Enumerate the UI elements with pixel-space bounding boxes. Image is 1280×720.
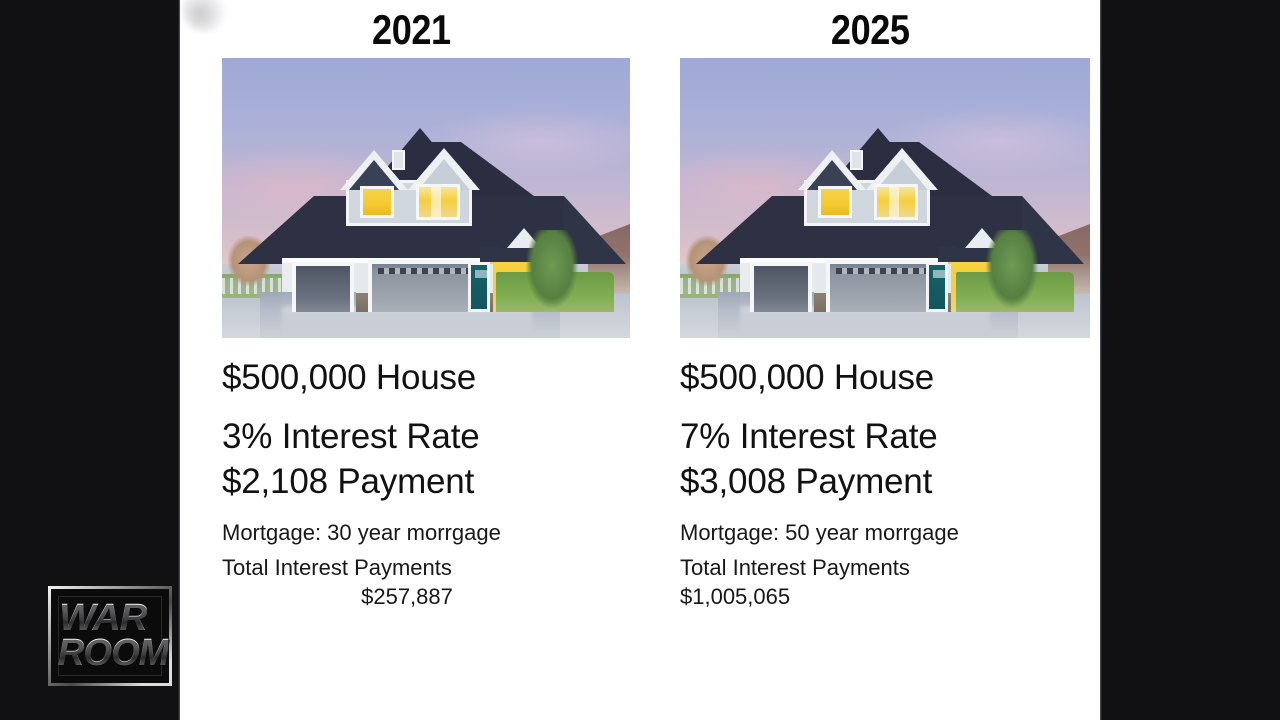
total-interest-amount-left: $257,887 xyxy=(222,585,630,608)
slide-stage: 2021 xyxy=(0,0,1280,720)
payment-line-left: $2,108 Payment xyxy=(222,464,630,499)
figures-right: $500,000 House 7% Interest Rate $3,008 P… xyxy=(680,338,1088,608)
garage-door-double xyxy=(368,260,480,312)
total-interest-label-left: Total Interest Payments xyxy=(222,556,630,579)
attic-vent-window xyxy=(850,150,863,170)
upper-window-1 xyxy=(818,186,852,218)
roof-left-slope xyxy=(238,196,314,264)
upper-window-2 xyxy=(874,184,918,220)
tree-right-icon xyxy=(986,230,1038,308)
comparison-column-2021: 2021 xyxy=(180,0,640,720)
total-interest-label-right: Total Interest Payments xyxy=(680,556,1088,579)
attic-vent-window xyxy=(392,150,405,170)
rate-line-right: 7% Interest Rate xyxy=(680,419,1088,454)
figures-left: $500,000 House 3% Interest Rate $2,108 P… xyxy=(222,338,630,608)
garage-door-double xyxy=(826,260,938,312)
front-door xyxy=(468,262,490,312)
logo-line-war: WAR xyxy=(55,601,146,636)
price-line-left: $500,000 House xyxy=(222,354,630,395)
logo-line-room: ROOM xyxy=(58,636,169,671)
slide-card: 2021 xyxy=(180,0,1100,720)
upper-window-1 xyxy=(360,186,394,218)
war-room-logo: WAR ROOM xyxy=(48,586,172,686)
porch-pillar-left xyxy=(814,264,826,312)
front-door xyxy=(926,262,948,312)
rate-line-left: 3% Interest Rate xyxy=(222,419,630,454)
house-photo-right xyxy=(680,58,1090,338)
garage-door-single xyxy=(292,262,354,312)
comparison-columns: 2021 xyxy=(180,0,1100,720)
price-line-right: $500,000 House xyxy=(680,354,1088,395)
roof-left-slope xyxy=(696,196,772,264)
mortgage-term-left: Mortgage: 30 year morrgage xyxy=(222,521,630,544)
mortgage-term-right: Mortgage: 50 year morrgage xyxy=(680,521,1088,544)
tree-right-icon xyxy=(526,230,578,308)
comparison-column-2025: 2025 xyxy=(640,0,1100,720)
porch-pillar-left xyxy=(356,264,368,312)
total-interest-amount-right: $1,005,065 xyxy=(680,585,1088,608)
house-photo-left xyxy=(222,58,630,338)
year-heading-left: 2021 xyxy=(251,0,602,58)
logo-text: WAR ROOM xyxy=(48,586,172,686)
payment-line-right: $3,008 Payment xyxy=(680,464,1088,499)
year-heading-right: 2025 xyxy=(709,0,1060,58)
upper-window-2 xyxy=(416,184,460,220)
letterbox-right xyxy=(1100,0,1280,720)
garage-door-single xyxy=(750,262,812,312)
